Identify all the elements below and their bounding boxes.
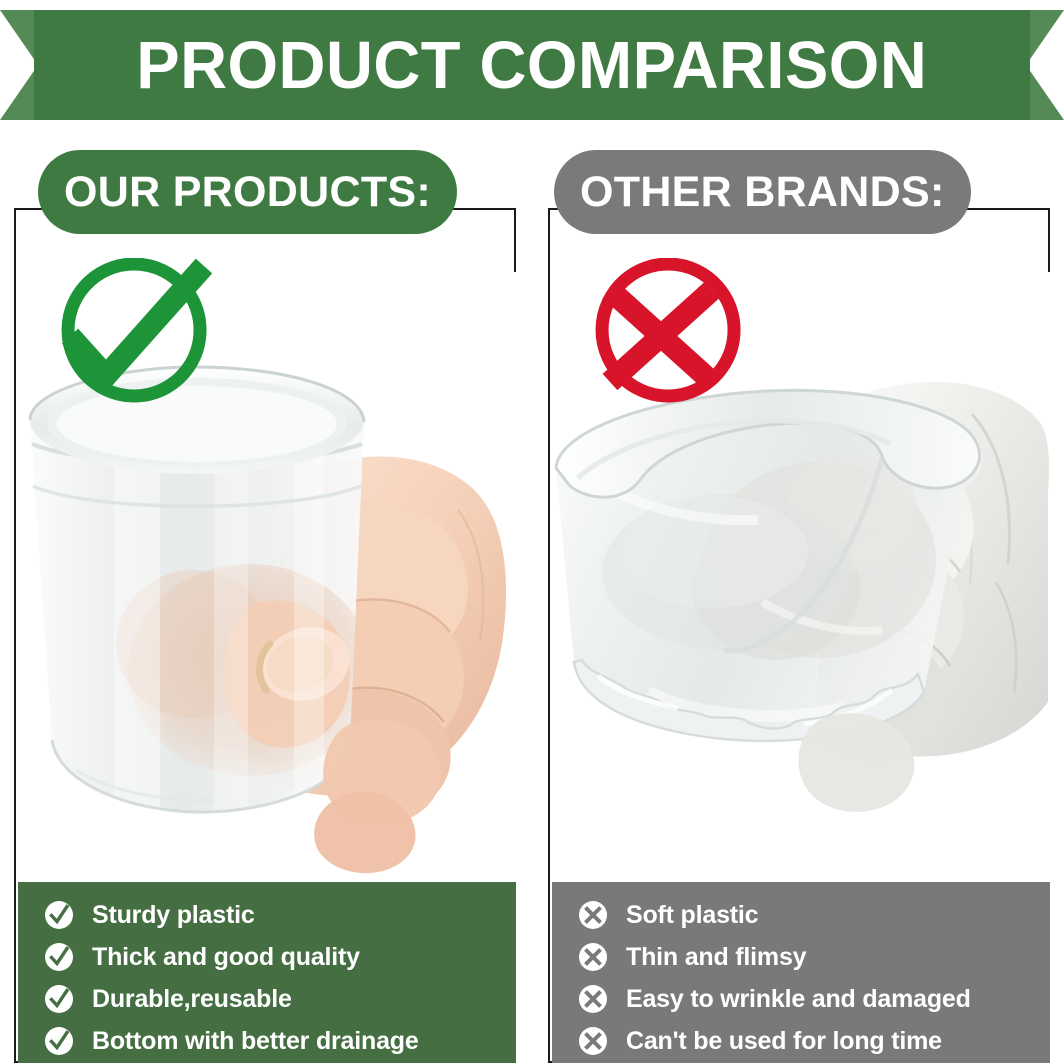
features-our-products: Sturdy plastic Thick and good quality bbox=[18, 882, 516, 1063]
list-item-label: Bottom with better drainage bbox=[92, 1029, 419, 1054]
list-item-label: Thin and flimsy bbox=[626, 945, 806, 970]
list-item: Soft plastic bbox=[578, 896, 1050, 934]
header-pill-label: OTHER BRANDS: bbox=[580, 171, 945, 214]
list-item-label: Sturdy plastic bbox=[92, 903, 255, 928]
column-other-brands: Soft plastic Thin and flimsy bbox=[548, 148, 1050, 1063]
list-item-label: Can't be used for long time bbox=[626, 1029, 942, 1054]
circle-x-icon bbox=[570, 258, 748, 410]
list-item-label: Soft plastic bbox=[626, 903, 758, 928]
list-item-label: Durable,reusable bbox=[92, 987, 292, 1012]
x-circle-icon bbox=[578, 984, 608, 1014]
list-item-label: Thick and good quality bbox=[92, 945, 360, 970]
check-circle-icon bbox=[44, 1026, 74, 1056]
banner: PRODUCT COMPARISON bbox=[0, 10, 1064, 120]
check-circle-icon bbox=[44, 984, 74, 1014]
check-circle-icon bbox=[44, 942, 74, 972]
x-circle-icon bbox=[578, 900, 608, 930]
features-other-brands: Soft plastic Thin and flimsy bbox=[552, 882, 1050, 1063]
list-item: Can't be used for long time bbox=[578, 1022, 1050, 1060]
header-pill-label: OUR PRODUCTS: bbox=[64, 171, 431, 214]
list-item: Thick and good quality bbox=[44, 938, 516, 976]
product-comparison-infographic: PRODUCT COMPARISON bbox=[0, 0, 1064, 1063]
list-item: Sturdy plastic bbox=[44, 896, 516, 934]
x-circle-icon bbox=[578, 942, 608, 972]
list-item: Durable,reusable bbox=[44, 980, 516, 1018]
circle-check-icon bbox=[36, 258, 214, 410]
list-item: Thin and flimsy bbox=[578, 938, 1050, 976]
comparison-columns: Sturdy plastic Thick and good quality bbox=[0, 148, 1064, 1063]
list-item: Bottom with better drainage bbox=[44, 1022, 516, 1060]
banner-body: PRODUCT COMPARISON bbox=[34, 10, 1030, 120]
column-our-products: Sturdy plastic Thick and good quality bbox=[14, 148, 516, 1063]
x-circle-icon bbox=[578, 1026, 608, 1056]
list-item: Easy to wrinkle and damaged bbox=[578, 980, 1050, 1018]
header-pill-our-products: OUR PRODUCTS: bbox=[38, 150, 457, 234]
check-circle-icon bbox=[44, 900, 74, 930]
page-title: PRODUCT COMPARISON bbox=[136, 32, 927, 99]
header-pill-other-brands: OTHER BRANDS: bbox=[554, 150, 971, 234]
list-item-label: Easy to wrinkle and damaged bbox=[626, 987, 971, 1012]
